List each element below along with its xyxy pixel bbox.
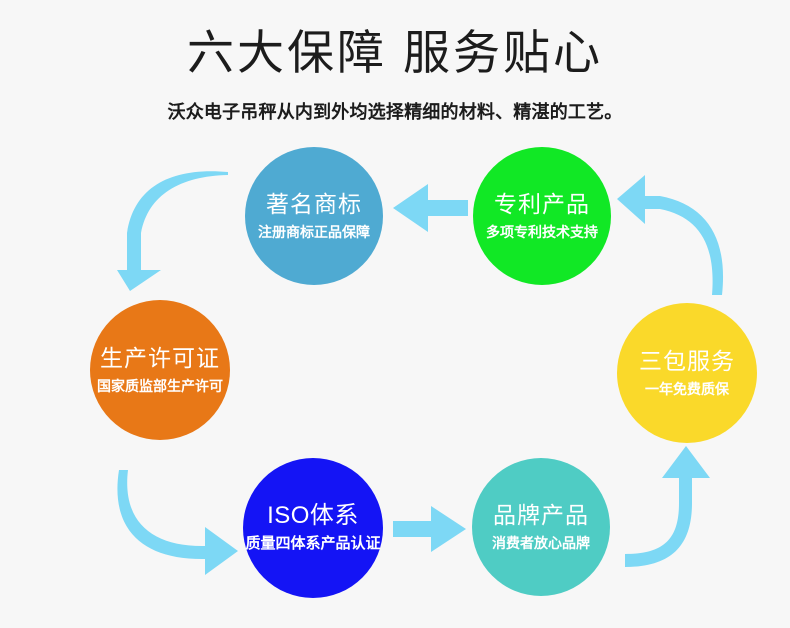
badge-trademark-title: 著名商标 xyxy=(266,189,362,219)
arrow-iso-to-brand-icon xyxy=(393,506,466,552)
arrow-warranty-to-patent-icon xyxy=(617,175,723,295)
badge-brand[interactable]: 品牌产品 消费者放心品牌 xyxy=(472,458,610,596)
arrow-trademark-to-license-icon xyxy=(117,171,228,291)
badge-warranty-title: 三包服务 xyxy=(639,346,735,376)
badge-trademark-subtitle: 注册商标正品保障 xyxy=(258,221,370,243)
badge-license-title: 生产许可证 xyxy=(100,343,220,373)
badge-brand-subtitle: 消费者放心品牌 xyxy=(492,532,590,554)
badge-warranty[interactable]: 三包服务 一年免费质保 xyxy=(617,303,757,443)
badge-license-subtitle: 国家质监部生产许可 xyxy=(97,375,223,397)
badge-patent-title: 专利产品 xyxy=(494,189,590,219)
arrow-brand-to-warranty-icon xyxy=(625,446,710,567)
page-title: 六大保障 服务贴心 xyxy=(0,24,790,82)
badge-license[interactable]: 生产许可证 国家质监部生产许可 xyxy=(90,300,230,440)
badge-warranty-subtitle: 一年免费质保 xyxy=(645,378,729,400)
badge-patent-subtitle: 多项专利技术支持 xyxy=(486,221,598,243)
badge-iso-title: ISO体系 xyxy=(267,501,359,531)
badge-patent[interactable]: 专利产品 多项专利技术支持 xyxy=(473,147,611,285)
badge-trademark[interactable]: 著名商标 注册商标正品保障 xyxy=(245,147,383,285)
arrow-patent-to-trademark-icon xyxy=(393,184,468,232)
badge-brand-title: 品牌产品 xyxy=(493,500,589,530)
infographic-page: 六大保障 服务贴心 沃众电子吊秤从内到外均选择精细的材料、精湛的工艺。 著名 xyxy=(0,0,790,628)
page-subtitle: 沃众电子吊秤从内到外均选择精细的材料、精湛的工艺。 xyxy=(0,99,790,125)
badge-iso[interactable]: ISO体系 质量四体系产品认证 xyxy=(243,458,383,598)
badge-iso-subtitle: 质量四体系产品认证 xyxy=(245,533,380,555)
arrow-license-to-iso-icon xyxy=(117,470,238,575)
